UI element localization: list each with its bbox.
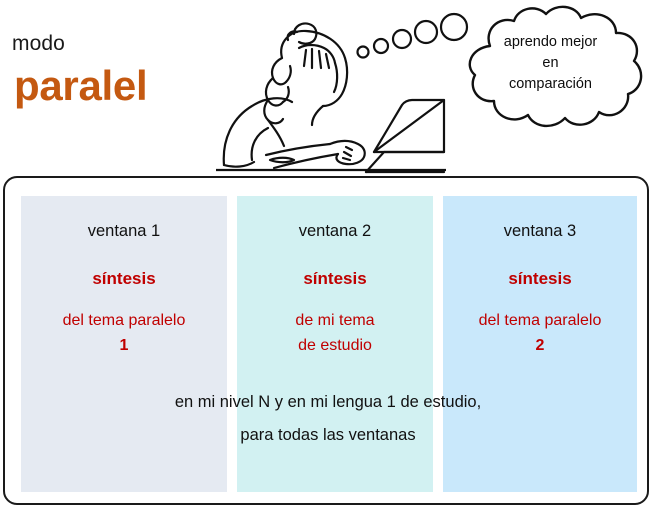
- parallel-mode-panel: ventana 1 síntesis del tema paralelo 1 v…: [3, 176, 649, 505]
- synthesis-label-3: síntesis: [443, 268, 637, 290]
- mode-label: modo: [12, 32, 65, 56]
- window-column-3[interactable]: ventana 3 síntesis del tema paralelo 2: [443, 196, 637, 492]
- window-column-1[interactable]: ventana 1 síntesis del tema paralelo 1: [21, 196, 227, 492]
- window-title-3: ventana 3: [443, 220, 637, 242]
- synthesis-label-1: síntesis: [21, 268, 227, 290]
- window-column-2[interactable]: ventana 2 síntesis de mi tema de estudio: [237, 196, 433, 492]
- window-title-1: ventana 1: [21, 220, 227, 242]
- synthesis-label-2: síntesis: [237, 268, 433, 290]
- header-area: modo paralel: [0, 0, 657, 175]
- window-description-2: de mi tema de estudio: [237, 308, 433, 358]
- window-description-1: del tema paralelo: [21, 308, 227, 333]
- window-description-emphasis-3: 2: [443, 333, 637, 358]
- window-description-3: del tema paralelo: [443, 308, 637, 333]
- thought-cloud-icon: aprendo mejor en comparación: [444, 2, 657, 130]
- mode-name: paralel: [14, 62, 147, 110]
- window-title-2: ventana 2: [237, 220, 433, 242]
- window-description-emphasis-1: 1: [21, 333, 227, 358]
- windows-columns: ventana 1 síntesis del tema paralelo 1 v…: [5, 178, 651, 507]
